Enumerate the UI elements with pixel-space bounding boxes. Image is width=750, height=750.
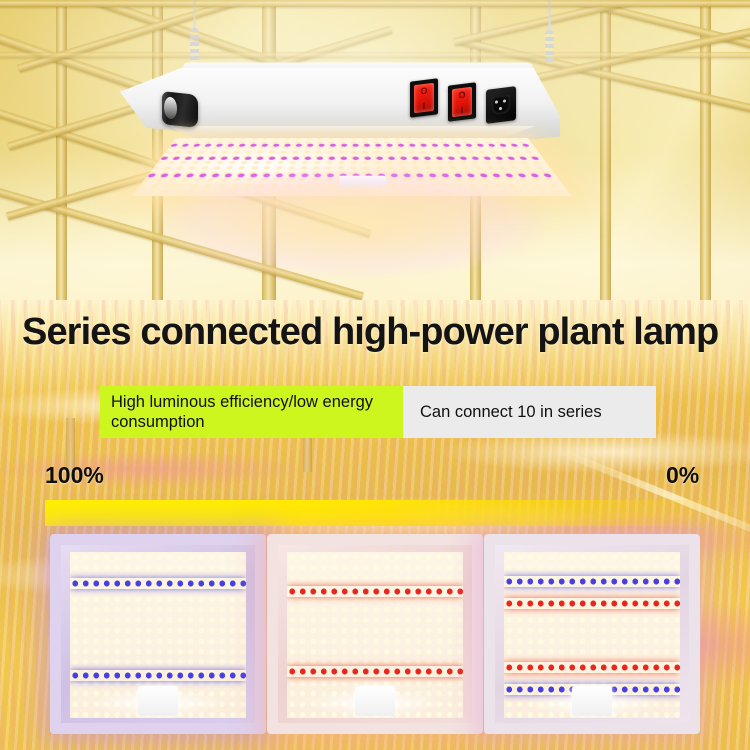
led-stripe-red <box>504 598 680 609</box>
switch-on-mark: O <box>414 85 434 97</box>
led-stripe-blue <box>504 576 680 587</box>
badge-efficiency-label: High luminous efficiency/low energy cons… <box>111 392 392 433</box>
rocker-switch-2[interactable]: O I <box>448 82 476 121</box>
badge-series: Can connect 10 in series <box>403 386 656 438</box>
led-stripe-red <box>287 586 463 597</box>
product-panel-blue[interactable] <box>50 534 266 734</box>
panel-driver-chip <box>355 686 395 716</box>
panel-driver-chip <box>138 686 178 716</box>
panel-gallery <box>0 534 750 750</box>
led-stripe-red <box>504 662 680 673</box>
led-stripe-blue <box>70 670 246 681</box>
feature-badges: High luminous efficiency/low energy cons… <box>100 386 656 438</box>
dimmer-knob-icon[interactable] <box>162 91 198 128</box>
hero-plant-lamp: O I O I <box>120 52 560 232</box>
lamp-led-array <box>132 138 572 196</box>
badge-efficiency: High luminous efficiency/low energy cons… <box>100 386 403 438</box>
led-stripe-red <box>287 666 463 677</box>
product-marketing-image: O I O I Series connected hi <box>0 0 750 750</box>
brightness-gradient-bar <box>45 500 710 526</box>
led-stripe-blue <box>70 578 246 589</box>
page-title: Series connected high-power plant lamp <box>22 313 738 353</box>
panel-driver-chip <box>572 686 612 716</box>
rocker-switch-1[interactable]: O I <box>410 78 438 117</box>
scale-label-right: 0% <box>666 462 699 489</box>
product-panel-red[interactable] <box>267 534 483 734</box>
switch-off-mark: I <box>452 104 472 116</box>
switch-off-mark: I <box>414 100 434 112</box>
power-socket-icon <box>486 86 516 124</box>
product-panel-mixed[interactable] <box>484 534 700 734</box>
scale-label-left: 100% <box>45 462 104 489</box>
badge-series-label: Can connect 10 in series <box>420 403 602 422</box>
switch-on-mark: O <box>452 89 472 101</box>
